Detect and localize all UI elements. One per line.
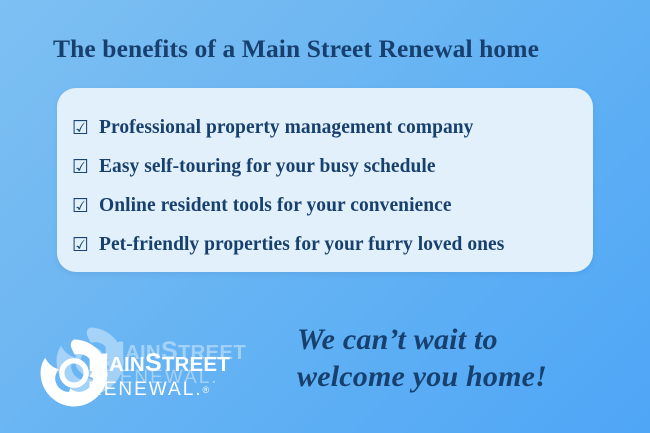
tagline-line-2: welcome you home! bbox=[297, 358, 627, 395]
checked-checkbox-icon: ☑ bbox=[72, 236, 99, 255]
checked-checkbox-icon: ☑ bbox=[72, 197, 99, 216]
logo-wordmark-sub: RENEWAL.® bbox=[88, 380, 288, 400]
logo-lockup: MAINSTREET RENEWAL. MAINSTREET RENEWAL.® bbox=[36, 325, 286, 421]
list-item-label: Professional property management company bbox=[99, 117, 473, 139]
logo-word-s: S bbox=[145, 349, 162, 377]
list-item: ☑ Professional property management compa… bbox=[72, 117, 473, 139]
list-item: ☑ Pet-friendly properties for your furry… bbox=[72, 234, 504, 256]
checked-checkbox-icon: ☑ bbox=[72, 119, 99, 138]
list-item-label: Online resident tools for your convenien… bbox=[99, 195, 452, 217]
logo-wordmark: MAINSTREET RENEWAL.® bbox=[88, 350, 288, 400]
benefits-card: ☑ Professional property management compa… bbox=[57, 88, 593, 272]
registered-trademark-icon: ® bbox=[203, 385, 210, 395]
logo-wordmark-main: MAINSTREET bbox=[88, 350, 288, 378]
logo-word-treet: TREET bbox=[162, 353, 230, 376]
logo-word-ain: AIN bbox=[109, 353, 145, 376]
logo-primary: MAINSTREET RENEWAL.® bbox=[36, 325, 286, 421]
list-item-label: Easy self-touring for your busy schedule bbox=[99, 156, 436, 178]
logo-word-renewal: RENEWAL. bbox=[88, 379, 203, 400]
list-item-label: Pet-friendly properties for your furry l… bbox=[99, 234, 504, 256]
page-title: The benefits of a Main Street Renewal ho… bbox=[53, 34, 613, 64]
tagline-line-1: We can’t wait to bbox=[297, 321, 627, 358]
checked-checkbox-icon: ☑ bbox=[72, 158, 99, 177]
promo-poster: The benefits of a Main Street Renewal ho… bbox=[0, 0, 650, 433]
list-item: ☑ Online resident tools for your conveni… bbox=[72, 195, 452, 217]
list-item: ☑ Easy self-touring for your busy schedu… bbox=[72, 156, 436, 178]
logo-word-m: M bbox=[88, 349, 109, 377]
tagline: We can’t wait to welcome you home! bbox=[297, 321, 627, 395]
